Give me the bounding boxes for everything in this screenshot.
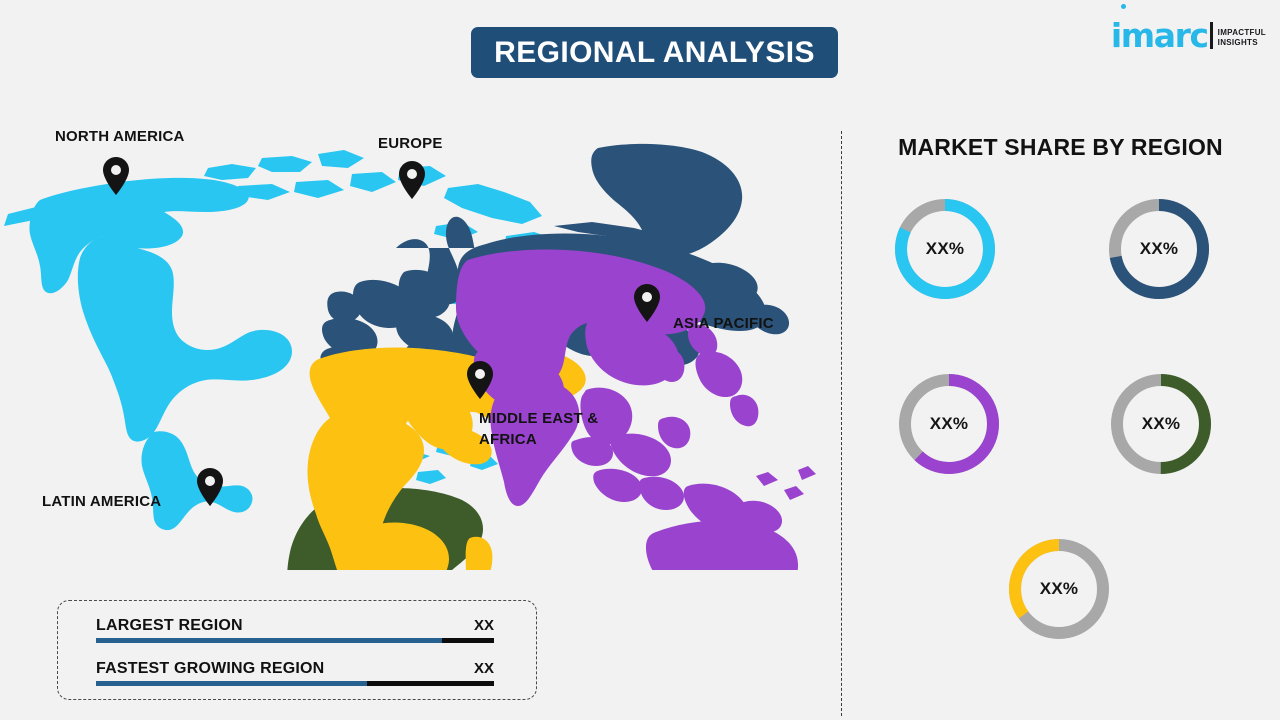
map-pin-icon-latin-america[interactable] bbox=[196, 468, 224, 506]
region-label-middle-east-africa: MIDDLE EAST & AFRICA bbox=[479, 408, 639, 450]
logo-wordmark: imarc bbox=[1111, 21, 1208, 51]
panel-divider bbox=[841, 131, 842, 716]
logo-divider bbox=[1210, 22, 1213, 49]
map-pin-icon-north-america[interactable] bbox=[102, 157, 130, 195]
region-summary-box: LARGEST REGION XX FASTEST GROWING REGION… bbox=[57, 600, 537, 700]
region-label-asia-pacific: ASIA PACIFIC bbox=[673, 313, 774, 334]
region-label-europe: EUROPE bbox=[378, 133, 443, 154]
summary-value-fastest-growing-region: XX bbox=[474, 660, 494, 677]
infographic-canvas: REGIONAL ANALYSIS imarc IMPACTFUL INSIGH… bbox=[0, 0, 1280, 720]
page-title-badge: REGIONAL ANALYSIS bbox=[471, 27, 838, 78]
donut-chart-asia-pacific: XX% bbox=[894, 369, 1004, 479]
summary-bar-fastest-growing-region bbox=[96, 681, 494, 686]
summary-label-fastest-growing-region: FASTEST GROWING REGION bbox=[96, 660, 324, 678]
donut-value-asia-pacific: XX% bbox=[894, 369, 1004, 479]
summary-row-largest-region: LARGEST REGION XX bbox=[96, 617, 494, 643]
logo-tagline-line2: INSIGHTS bbox=[1218, 38, 1266, 48]
donut-chart-europe: XX% bbox=[1104, 194, 1214, 304]
donut-value-latin-america: XX% bbox=[1106, 369, 1216, 479]
donut-value-north-america: XX% bbox=[890, 194, 1000, 304]
summary-label-largest-region: LARGEST REGION bbox=[96, 617, 243, 635]
logo-dot-icon bbox=[1121, 4, 1126, 9]
summary-value-largest-region: XX bbox=[474, 617, 494, 634]
page-title: REGIONAL ANALYSIS bbox=[494, 36, 815, 70]
donut-value-middle-east-africa: XX% bbox=[1004, 534, 1114, 644]
logo-tagline-line1: IMPACTFUL bbox=[1218, 28, 1266, 38]
map-pin-icon-asia-pacific[interactable] bbox=[633, 284, 661, 322]
map-pin-icon-europe[interactable] bbox=[398, 161, 426, 199]
region-label-latin-america: LATIN AMERICA bbox=[42, 491, 161, 512]
donut-chart-middle-east-africa: XX% bbox=[1004, 534, 1114, 644]
panel-title: MARKET SHARE BY REGION bbox=[888, 134, 1233, 161]
summary-row-fastest-growing-region: FASTEST GROWING REGION XX bbox=[96, 660, 494, 686]
donut-chart-latin-america: XX% bbox=[1106, 369, 1216, 479]
region-label-north-america: NORTH AMERICA bbox=[55, 126, 185, 147]
summary-bar-fill-fastest-growing-region bbox=[96, 681, 367, 686]
summary-bar-largest-region bbox=[96, 638, 494, 643]
logo-tagline: IMPACTFUL INSIGHTS bbox=[1218, 28, 1266, 48]
summary-bar-fill-largest-region bbox=[96, 638, 442, 643]
donut-chart-north-america: XX% bbox=[890, 194, 1000, 304]
brand-logo: imarc IMPACTFUL INSIGHTS bbox=[1111, 11, 1266, 51]
donut-value-europe: XX% bbox=[1104, 194, 1214, 304]
map-pin-icon-middle-east-africa[interactable] bbox=[466, 361, 494, 399]
